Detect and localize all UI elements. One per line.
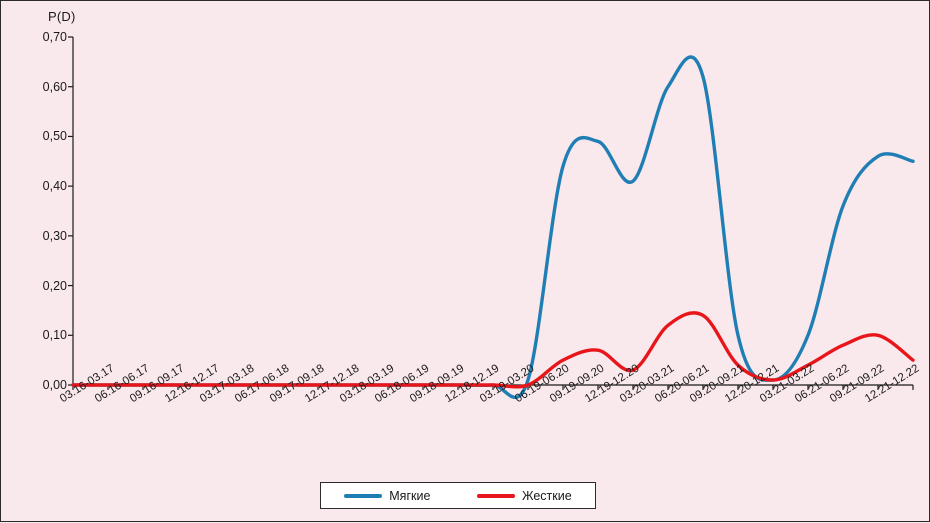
chart-legend: МягкиеЖесткие xyxy=(320,482,596,509)
legend-entry[interactable]: Жесткие xyxy=(477,489,572,503)
legend-entry[interactable]: Мягкие xyxy=(344,489,430,503)
legend-label: Мягкие xyxy=(389,489,430,503)
legend-swatch-soft xyxy=(344,494,382,498)
x-axis-tick-labels: 03.16-03.1706.16-06.1709.16-09.1712.16-1… xyxy=(1,1,930,523)
chart-container: P(D) 0,000,100,200,300,400,500,600,70 03… xyxy=(0,0,930,522)
legend-swatch-hard xyxy=(477,494,515,498)
legend-label: Жесткие xyxy=(522,489,572,503)
